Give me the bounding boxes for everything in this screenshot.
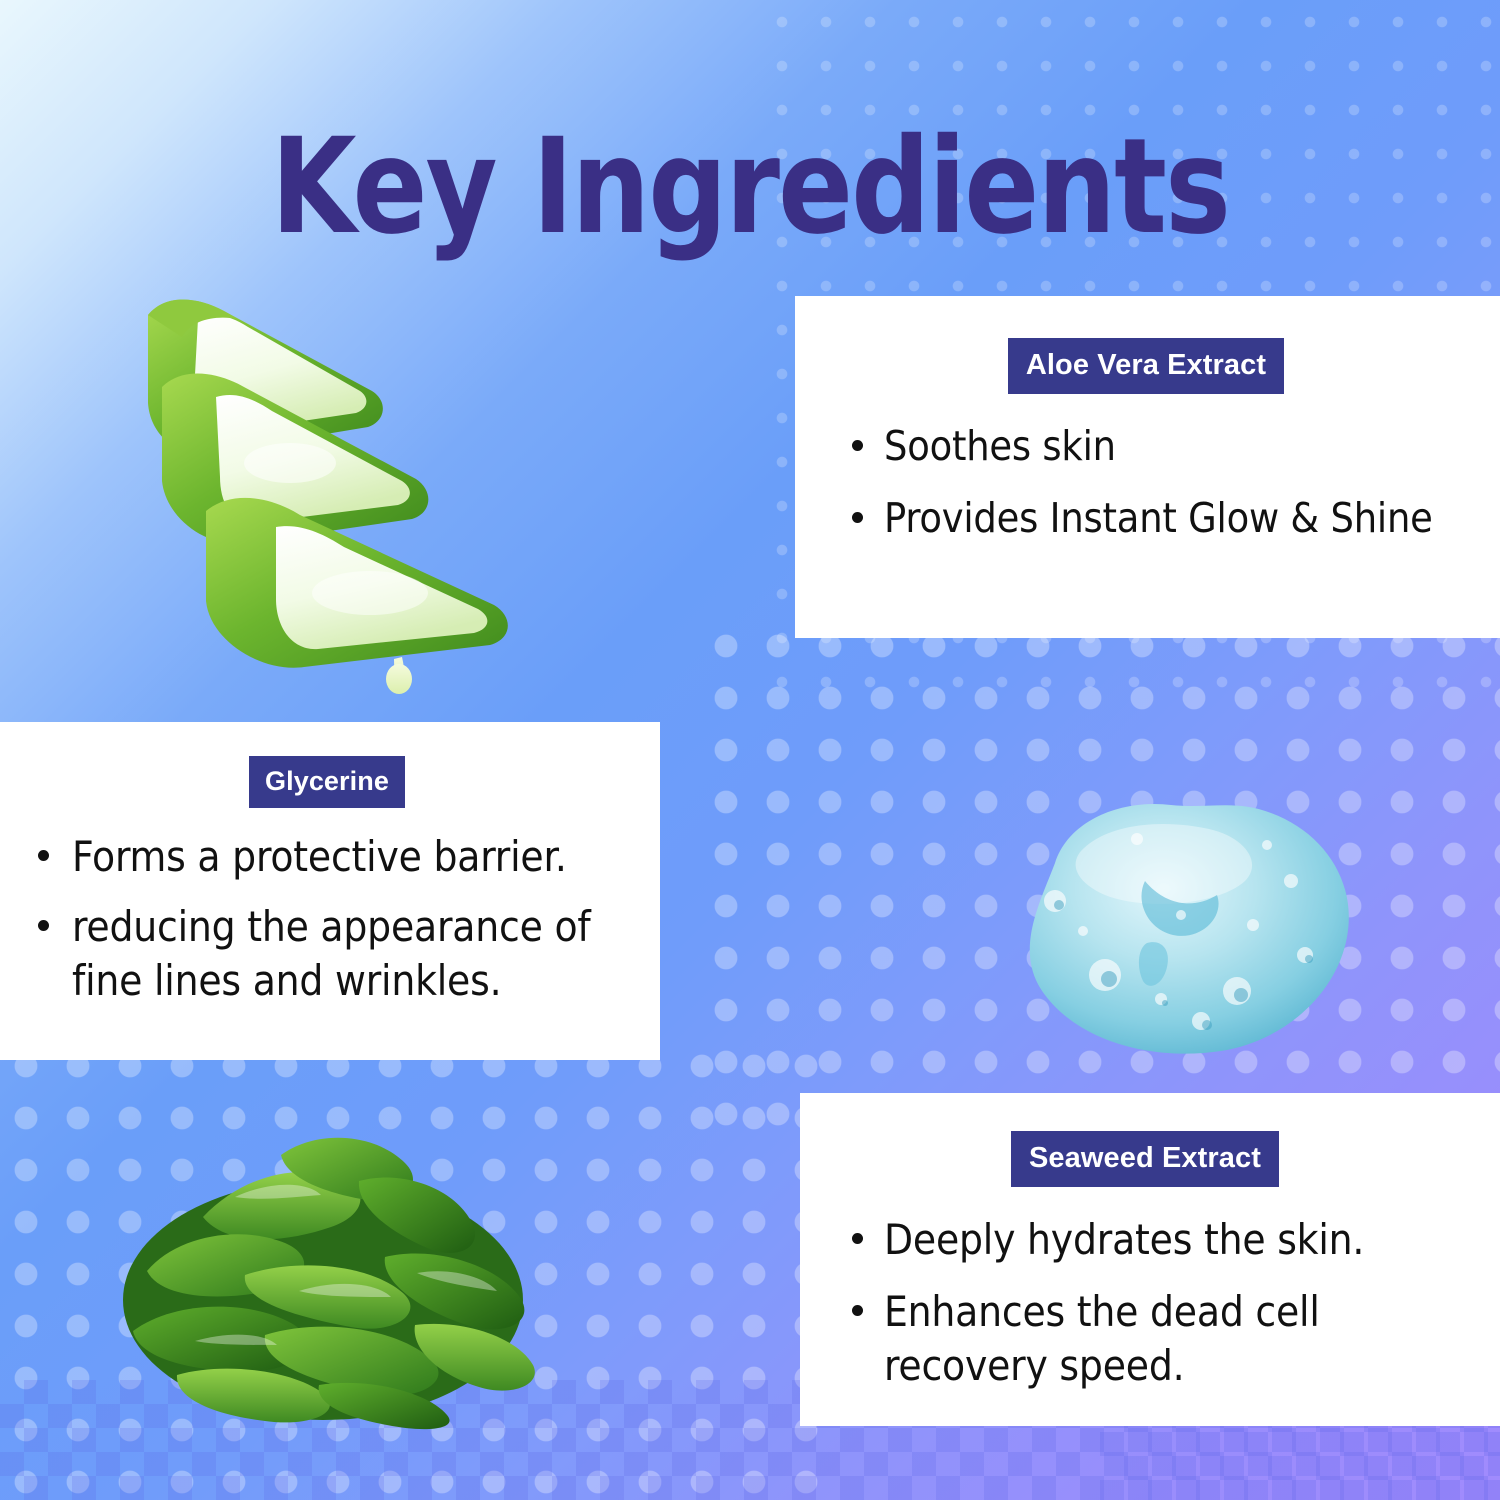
- list-item: Provides Instant Glow & Shine: [840, 492, 1460, 544]
- ingredient-badge-seaweed: Seaweed Extract: [1011, 1131, 1279, 1187]
- list-item: Soothes skin: [840, 420, 1460, 472]
- list-item: reducing the appearance of fine lines an…: [24, 900, 636, 1008]
- badge-row: Glycerine: [18, 756, 636, 808]
- list-item: Enhances the dead cell recovery speed.: [840, 1285, 1460, 1393]
- aloe-vera-slices-image: [120, 275, 550, 695]
- ingredient-card-seaweed: Seaweed Extract Deeply hydrates the skin…: [800, 1093, 1500, 1426]
- benefit-list-seaweed: Deeply hydrates the skin. Enhances the d…: [840, 1213, 1460, 1392]
- seaweed-pile-image: [85, 1085, 560, 1430]
- ingredient-badge-aloe-vera: Aloe Vera Extract: [1008, 338, 1284, 394]
- badge-row: Aloe Vera Extract: [832, 338, 1460, 394]
- page-title: Key Ingredients: [53, 118, 1448, 257]
- ingredient-card-aloe-vera: Aloe Vera Extract Soothes skin Provides …: [795, 296, 1500, 638]
- benefit-list-aloe-vera: Soothes skin Provides Instant Glow & Shi…: [840, 420, 1460, 545]
- ingredient-card-glycerine: Glycerine Forms a protective barrier. re…: [0, 722, 660, 1060]
- badge-row: Seaweed Extract: [830, 1131, 1460, 1187]
- blue-gel-blob-image: [995, 785, 1370, 1065]
- list-item: Forms a protective barrier.: [24, 830, 636, 884]
- key-ingredients-poster: Key Ingredients: [0, 0, 1500, 1500]
- benefit-list-glycerine: Forms a protective barrier. reducing the…: [24, 830, 636, 1007]
- ingredient-badge-glycerine: Glycerine: [249, 756, 405, 808]
- list-item: Deeply hydrates the skin.: [840, 1213, 1460, 1267]
